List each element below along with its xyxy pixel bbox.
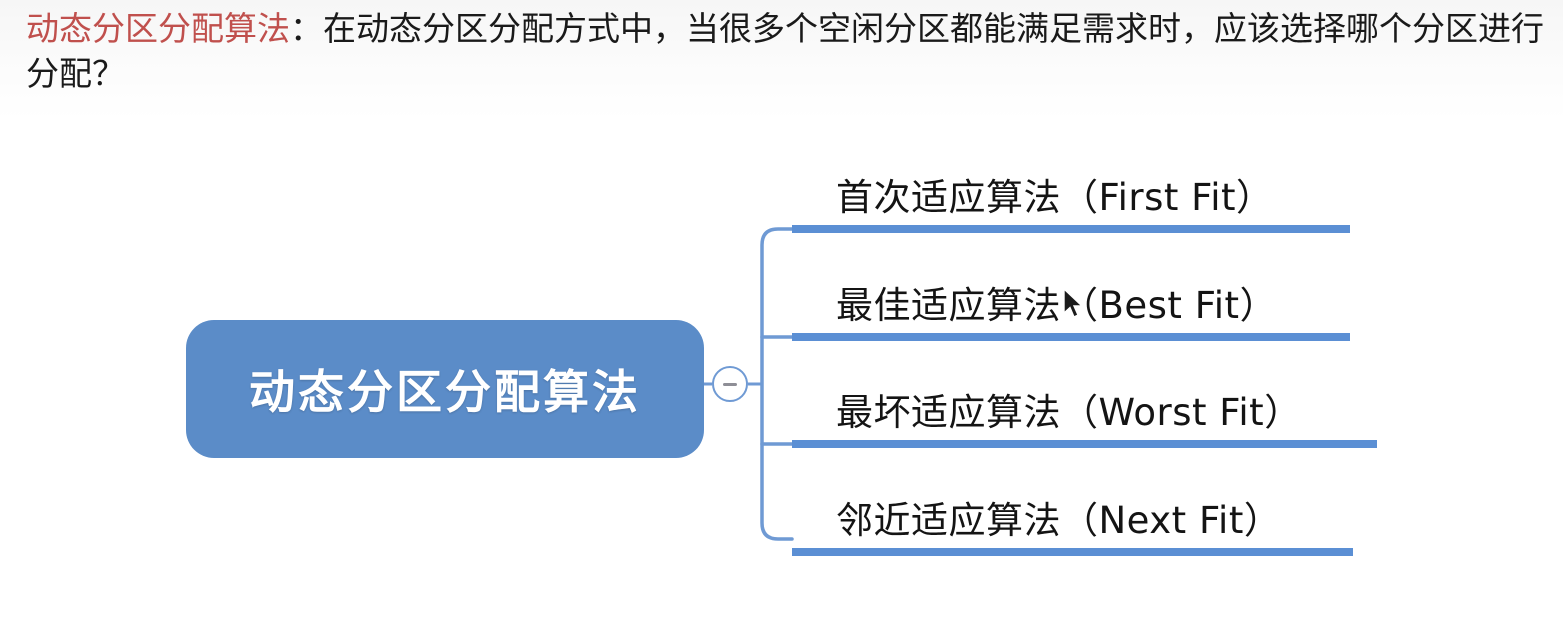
collapse-toggle-button[interactable]: [712, 366, 748, 402]
mindmap-root-label: 动态分区分配算法: [249, 356, 641, 422]
branch-label: 最佳适应算法（Best Fit）: [836, 275, 1277, 329]
mindmap-branch-worst-fit[interactable]: 最坏适应算法（Worst Fit）: [792, 390, 1412, 448]
branch-underline-bar: [792, 333, 1350, 341]
branch-label: 最坏适应算法（Worst Fit）: [836, 382, 1302, 436]
branch-underline-bar: [792, 548, 1353, 556]
mindmap-branch-best-fit[interactable]: 最佳适应算法（Best Fit）: [792, 283, 1392, 341]
branch-underline-bar: [792, 440, 1377, 448]
branch-label: 首次适应算法（First Fit）: [836, 167, 1274, 221]
branch-label: 邻近适应算法（Next Fit）: [836, 490, 1281, 544]
mindmap-page: 动态分区分配算法：在动态分区分配方式中，当很多个空闲分区都能满足需求时，应该选择…: [0, 0, 1563, 635]
mindmap-root-node[interactable]: 动态分区分配算法: [186, 320, 704, 458]
mindmap-canvas: 动态分区分配算法 首次适应算法（First Fit） 最佳适应算法（Best F…: [0, 0, 1563, 635]
branch-underline-bar: [792, 225, 1350, 233]
mindmap-branch-next-fit[interactable]: 邻近适应算法（Next Fit）: [792, 498, 1412, 556]
mindmap-branch-first-fit[interactable]: 首次适应算法（First Fit）: [792, 175, 1392, 233]
minus-icon: [723, 383, 737, 386]
